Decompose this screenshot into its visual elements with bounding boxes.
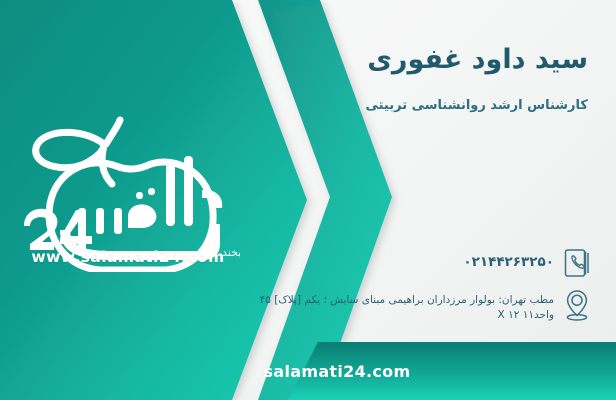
job-title: کارشناس ارشد روانشناسی تربیتی: [365, 98, 588, 113]
business-card: به راحتی یک لبخند www.salamati24.com سید…: [0, 0, 616, 400]
address-text: مطب تهران: بولوار مرزداران براهیمی مبنای…: [254, 287, 554, 323]
person-name: سید داود غفوری: [367, 44, 588, 75]
address-line-1: مطب تهران: بولوار مرزداران براهیمی مبنای…: [254, 293, 554, 308]
map-pin-icon: [560, 287, 594, 323]
contact-details: ۰۲۱۴۴۲۶۳۲۵۰ مطب تهران: بولوار مرزداران ب…: [254, 245, 594, 329]
phonebook-icon: [560, 245, 594, 281]
salamati24-logo: به راحتی یک لبخند: [16, 104, 240, 272]
footer-bar: salamati24.com: [0, 342, 616, 400]
address-line-2: واحد۱۱ ۱۲ X: [254, 308, 554, 323]
phone-row: ۰۲۱۴۴۲۶۳۲۵۰: [254, 245, 594, 281]
phone-number: ۰۲۱۴۴۲۶۳۲۵۰: [254, 245, 554, 270]
footer-website: salamati24.com: [0, 342, 616, 400]
logo-website-url: www.salamati24.com: [18, 248, 238, 266]
address-row: مطب تهران: بولوار مرزداران براهیمی مبنای…: [254, 287, 594, 323]
